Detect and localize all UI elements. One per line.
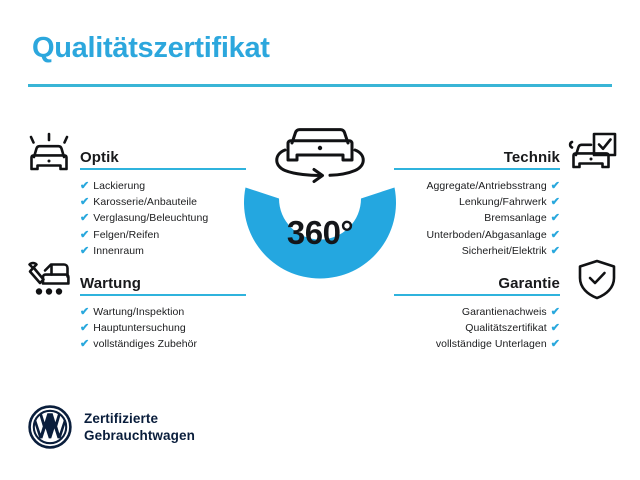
check-icon: ✔ <box>80 180 89 192</box>
check-icon: ✔ <box>80 322 89 334</box>
list-item-label: Aggregate/Antriebsstrang <box>426 180 546 192</box>
list-item-label: Lenkung/Fahrwerk <box>459 196 547 208</box>
list-item-label: Wartung/Inspektion <box>93 306 184 318</box>
list-item: vollständige Unterlagen✔ <box>394 336 560 352</box>
wrench-car-icon <box>22 257 76 303</box>
title-divider <box>28 84 612 87</box>
list-item: Qualitätszertifikat✔ <box>394 320 560 336</box>
list-item-label: Hauptuntersuchung <box>93 322 186 334</box>
section-garantie-list: Garantienachweis✔ Qualitätszertifikat✔ v… <box>394 304 560 353</box>
list-item-label: Felgen/Reifen <box>93 229 159 241</box>
list-item: ✔Hauptuntersuchung <box>80 320 246 336</box>
list-item-label: Innenraum <box>93 245 144 257</box>
car-rotate-icon <box>277 130 364 182</box>
page-title: Qualitätszertifikat <box>32 32 270 65</box>
section-technik: Technik Aggregate/Antriebsstrang✔ Lenkun… <box>394 140 560 259</box>
list-item-label: Qualitätszertifikat <box>465 322 546 334</box>
check-icon: ✔ <box>551 180 560 192</box>
check-icon: ✔ <box>551 229 560 241</box>
list-item-label: Garantienachweis <box>462 306 547 318</box>
certificate-page: Qualitätszertifikat Optik ✔Lackierung ✔K… <box>0 0 640 480</box>
footer-line-2: Gebrauchtwagen <box>84 427 195 444</box>
shield-check-icon <box>570 257 624 303</box>
list-item: Lenkung/Fahrwerk✔ <box>394 194 560 210</box>
section-optik-title: Optik <box>80 149 119 166</box>
list-item-label: Sicherheit/Elektrik <box>462 245 547 257</box>
list-item-label: vollständiges Zubehör <box>93 338 197 350</box>
list-item-label: vollständige Unterlagen <box>436 338 547 350</box>
list-item: Garantienachweis✔ <box>394 304 560 320</box>
section-technik-divider <box>394 168 560 170</box>
check-icon: ✔ <box>551 322 560 334</box>
footer-line-1: Zertifizierte <box>84 410 195 427</box>
check-icon: ✔ <box>80 338 89 350</box>
check-icon: ✔ <box>80 212 89 224</box>
list-item-label: Lackierung <box>93 180 145 192</box>
check-icon: ✔ <box>551 306 560 318</box>
section-technik-title: Technik <box>504 149 560 166</box>
list-item-label: Verglasung/Beleuchtung <box>93 212 208 224</box>
list-item: Bremsanlage✔ <box>394 210 560 226</box>
badge-center-label: 360° <box>222 214 418 252</box>
section-garantie: Garantie Garantienachweis✔ Qualitätszert… <box>394 266 560 353</box>
section-garantie-header: Garantie <box>394 266 560 296</box>
badge-360-gebrauchtwagen-check: Gebrauchtwagen-Check 360° <box>222 112 418 312</box>
list-item-label: Bremsanlage <box>484 212 546 224</box>
footer-logo-block: Zertifizierte Gebrauchtwagen <box>28 405 195 449</box>
list-item: Unterboden/Abgasanlage✔ <box>394 227 560 243</box>
car-checkbox-icon <box>566 131 620 177</box>
check-icon: ✔ <box>551 245 560 257</box>
list-item-label: Karosserie/Anbauteile <box>93 196 197 208</box>
section-wartung-title: Wartung <box>80 275 141 292</box>
car-shine-icon <box>22 131 76 177</box>
section-technik-list: Aggregate/Antriebsstrang✔ Lenkung/Fahrwe… <box>394 178 560 259</box>
vw-logo <box>28 405 72 449</box>
list-item: Aggregate/Antriebsstrang✔ <box>394 178 560 194</box>
section-garantie-divider <box>394 294 560 296</box>
list-item: Sicherheit/Elektrik✔ <box>394 243 560 259</box>
check-icon: ✔ <box>551 196 560 208</box>
footer-text: Zertifizierte Gebrauchtwagen <box>84 410 195 444</box>
section-garantie-title: Garantie <box>498 275 560 292</box>
list-item-label: Unterboden/Abgasanlage <box>427 229 547 241</box>
check-icon: ✔ <box>80 306 89 318</box>
check-icon: ✔ <box>551 338 560 350</box>
list-item: ✔vollständiges Zubehör <box>80 336 246 352</box>
check-icon: ✔ <box>80 245 89 257</box>
check-icon: ✔ <box>80 229 89 241</box>
section-technik-header: Technik <box>394 140 560 170</box>
check-icon: ✔ <box>80 196 89 208</box>
check-icon: ✔ <box>551 212 560 224</box>
